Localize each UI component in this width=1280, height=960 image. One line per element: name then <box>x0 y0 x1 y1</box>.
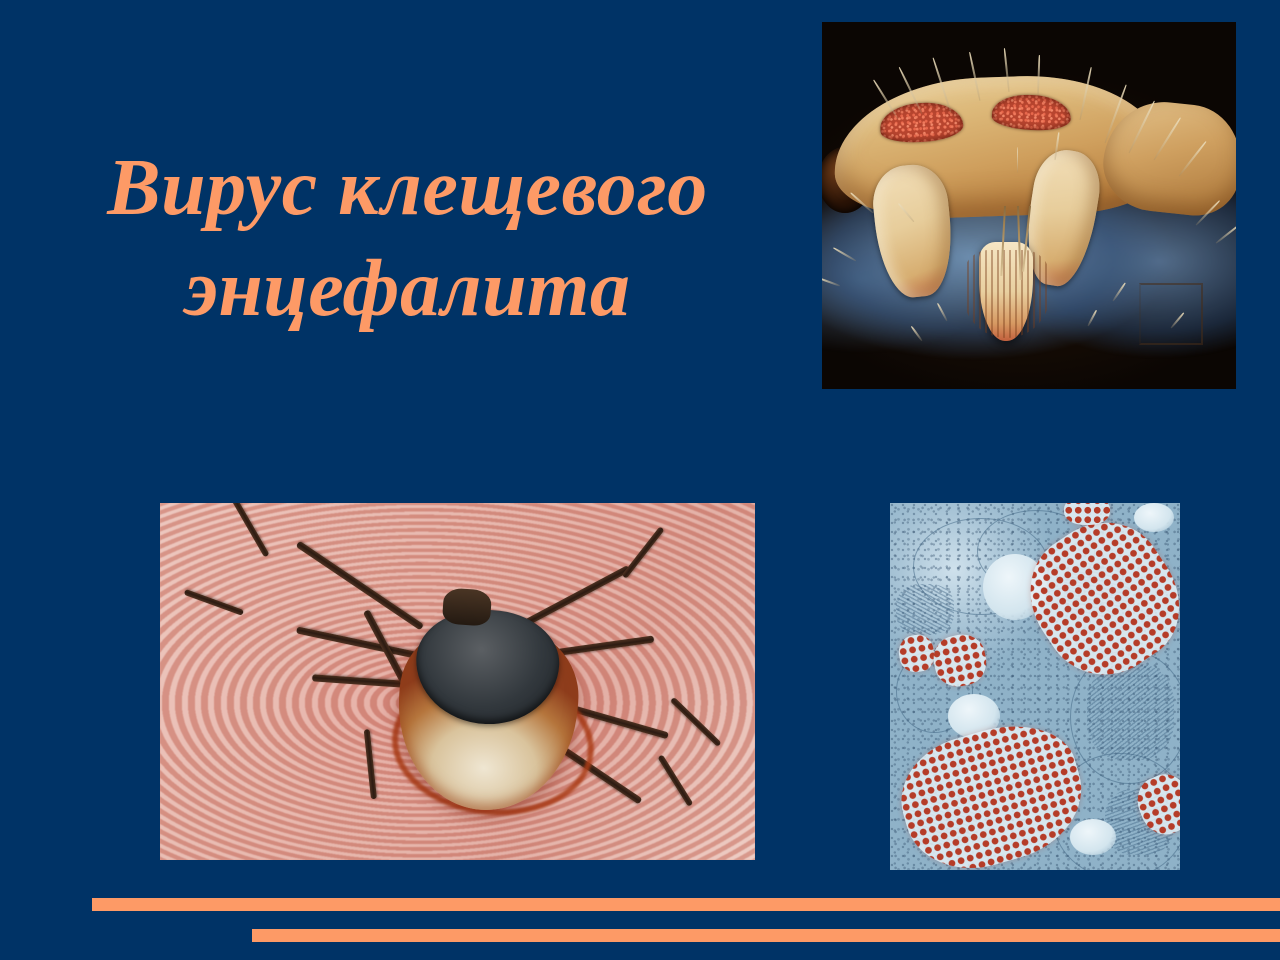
presentation-slide: Вирус клещевого энцефалита <box>0 0 1280 960</box>
tick-capitulum <box>441 587 491 626</box>
tem-er-stack <box>1087 664 1174 759</box>
title-line-2: энцефалита <box>0 239 815 340</box>
virus-particles-tem-image <box>890 503 1180 870</box>
accent-bar-top <box>92 898 1280 911</box>
sem-hypostome-teeth <box>963 250 1050 338</box>
slide-title: Вирус клещевого энцефалита <box>0 138 815 340</box>
tick-on-skin-image <box>160 503 755 860</box>
sem-scene <box>822 22 1236 389</box>
tem-er-stack <box>896 584 954 635</box>
title-line-1: Вирус клещевого <box>0 138 815 239</box>
tick-mouthparts-sem-image <box>822 22 1236 389</box>
tem-vesicle <box>1070 819 1116 856</box>
sem-reticle-mark <box>1139 283 1203 345</box>
sem-seta <box>1017 147 1019 173</box>
accent-bar-bottom <box>252 929 1280 942</box>
